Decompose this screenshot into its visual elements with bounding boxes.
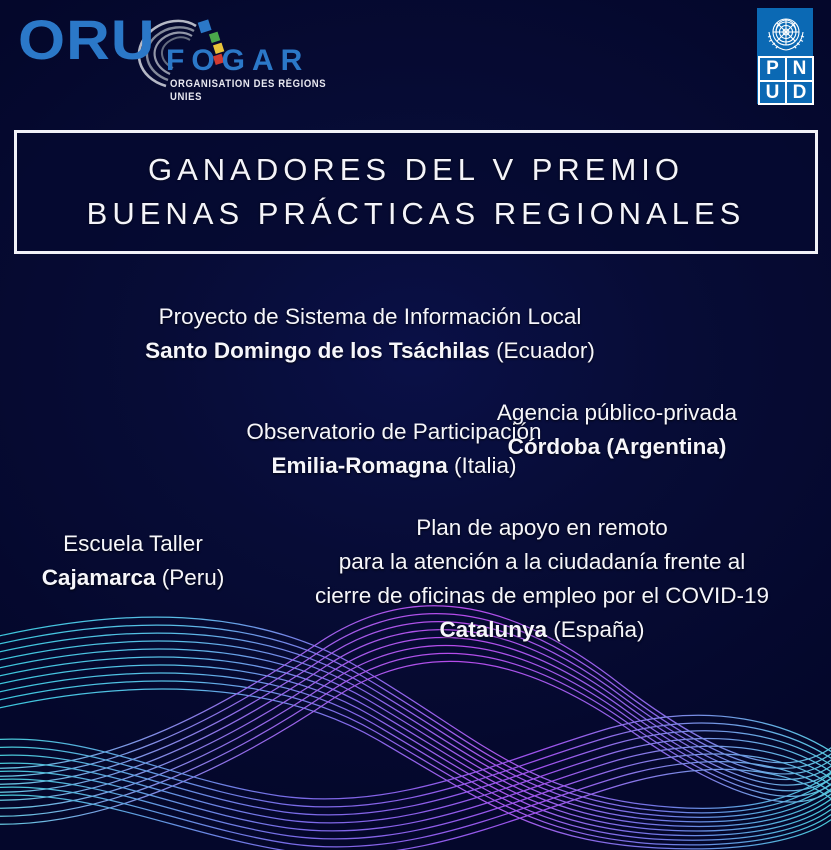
winner-entry-cordoba: Agencia público-privada Córdoba (Argenti… (446, 396, 788, 464)
fogar-wordmark: FOGAR (166, 46, 309, 76)
winner-region: Córdoba (508, 434, 601, 459)
oru-wordmark: ORU (18, 12, 156, 68)
winner-description: Proyecto de Sistema de Información Local (0, 300, 740, 334)
un-emblem-icon (762, 12, 810, 54)
pnud-letter-n: N (787, 58, 812, 80)
winner-country: (Ecuador) (496, 338, 595, 363)
poster-canvas: ORU FOGAR ORGANISATION DES RÉGIONS UNIES (0, 0, 831, 850)
winner-region: Cajamarca (42, 565, 156, 590)
pnud-letter-p: P (760, 58, 785, 80)
winner-region-line: Catalunya (España) (272, 613, 812, 647)
winner-description: Escuela Taller (10, 527, 256, 561)
winner-entry-catalunya: Plan de apoyo en remoto para la atención… (272, 511, 812, 647)
title-line-1: GANADORES DEL V PREMIO (148, 148, 684, 192)
winner-description-line-1: Plan de apoyo en remoto (272, 511, 812, 545)
pnud-letter-d: D (787, 82, 812, 104)
oru-fogar-logo: ORU FOGAR ORGANISATION DES RÉGIONS UNIES (18, 8, 338, 100)
oru-fogar-tagline: ORGANISATION DES RÉGIONS UNIES (170, 78, 338, 103)
winner-description-line-2: para la atención a la ciudadanía frente … (272, 545, 812, 579)
pnud-logo: P N U D (757, 8, 813, 104)
winner-region: Santo Domingo de los Tsáchilas (145, 338, 490, 363)
pnud-letter-grid: P N U D (758, 56, 814, 105)
winner-region: Catalunya (439, 617, 547, 642)
winner-entry-santo-domingo: Proyecto de Sistema de Información Local… (0, 300, 740, 368)
title-banner: GANADORES DEL V PREMIO BUENAS PRÁCTICAS … (14, 130, 818, 254)
winner-region-line: Santo Domingo de los Tsáchilas (Ecuador) (0, 334, 740, 368)
winner-region: Emilia-Romagna (271, 453, 447, 478)
title-line-2: BUENAS PRÁCTICAS REGIONALES (87, 192, 746, 236)
winner-country: (Argentina) (606, 434, 726, 459)
winner-description: Agencia público-privada (446, 396, 788, 430)
winner-country: (España) (553, 617, 644, 642)
winner-entry-cajamarca: Escuela Taller Cajamarca (Peru) (10, 527, 256, 595)
pnud-letter-u: U (760, 82, 785, 104)
winner-region-line: Córdoba (Argentina) (446, 430, 788, 464)
winner-country: (Peru) (162, 565, 225, 590)
winner-region-line: Cajamarca (Peru) (10, 561, 256, 595)
winner-description-line-3: cierre de oficinas de empleo por el COVI… (272, 579, 812, 613)
pnud-logo-box: P N U D (757, 8, 813, 104)
